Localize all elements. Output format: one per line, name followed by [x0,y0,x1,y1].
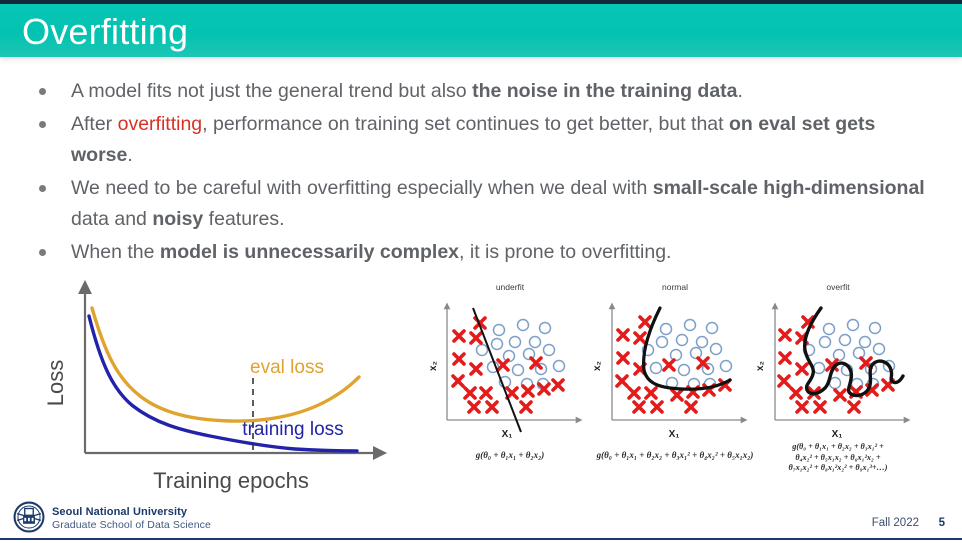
panel-normal: normal x₂ X₁ [590,282,760,494]
panel-title-underfit: underfit [425,282,595,292]
bullet-text-4: When the model is unnecessarily complex,… [71,237,938,268]
bullet-dot-icon [39,185,46,192]
panel-title-normal: normal [590,282,760,292]
panel-title-overfit: overfit [753,282,923,292]
footer-divider [0,538,962,540]
loss-chart-svg: Loss Training epochs eval loss training … [45,278,415,500]
formula-normal: g(θ₀ + θ₁x₁ + θ₂x₂ + θ₃x₁² + θ₄x₂² + θ₅x… [590,450,760,462]
svg-text:X₁: X₁ [502,429,513,440]
list-item: We need to be careful with overfitting e… [28,173,938,235]
formula-overfit-line-1: g(θ₀ + θ₁x₁ + θ₂x₂ + θ₃x₁² + [753,442,923,453]
svg-text:X₁: X₁ [832,429,843,440]
svg-text:X₁: X₁ [669,429,680,440]
fit-comparison-figure: underfit x₂ X₁ [420,282,948,494]
underfit-scatter: x₂ X₁ [425,292,595,452]
footer-university-name: Seoul National University [52,506,211,519]
panel-overfit: overfit x₂ X₁ [753,282,923,494]
bullet-list: A model fits not just the general trend … [28,76,938,270]
svg-text:x₂: x₂ [428,361,439,371]
page-number: 5 [939,517,945,529]
list-item: A model fits not just the general trend … [28,76,938,107]
list-item: When the model is unnecessarily complex,… [28,237,938,268]
footer-term: Fall 2022 [872,517,919,529]
slide-root: Overfitting A model fits not just the ge… [0,0,962,543]
svg-text:x₂: x₂ [592,361,603,371]
panel-underfit: underfit x₂ X₁ [425,282,595,494]
footer-institution: Seoul National University Graduate Schoo… [52,506,211,532]
bullet-text-2: After overfitting, performance on traini… [71,109,938,171]
svg-text:x₂: x₂ [755,361,766,371]
x-axis-label: Training epochs [153,468,309,493]
snu-logo-icon [12,500,46,534]
loss-curve-chart: Loss Training epochs eval loss training … [45,278,415,500]
training-loss-label: training loss [242,419,343,440]
formula-overfit-line-3: θ₇x₁x₂² + θ₈x₁²x₂² + θ₉x₁³+…) [753,463,923,474]
overfit-scatter: x₂ X₁ [753,292,933,452]
page-title: Overfitting [22,7,188,57]
bullet-dot-icon [39,88,46,95]
footer-school-name: Graduate School of Data Science [52,519,211,532]
bullet-dot-icon [39,249,46,256]
title-bar: Overfitting [0,4,962,57]
bullet-dot-icon [39,121,46,128]
formula-overfit: g(θ₀ + θ₁x₁ + θ₂x₂ + θ₃x₁² + θ₄x₂² + θ₅x… [753,442,923,474]
y-axis-label: Loss [45,360,68,406]
formula-underfit: g(θ₀ + θ₁x₁ + θ₂x₂) [425,450,595,462]
list-item: After overfitting, performance on traini… [28,109,938,171]
bullet-text-1: A model fits not just the general trend … [71,76,938,107]
bullet-text-3: We need to be careful with overfitting e… [71,173,938,235]
eval-loss-label: eval loss [250,357,324,378]
formula-overfit-line-2: θ₄x₂² + θ₅x₁x₂ + θ₆x₁²x₂ + [753,453,923,464]
normal-scatter: x₂ X₁ [590,292,765,452]
